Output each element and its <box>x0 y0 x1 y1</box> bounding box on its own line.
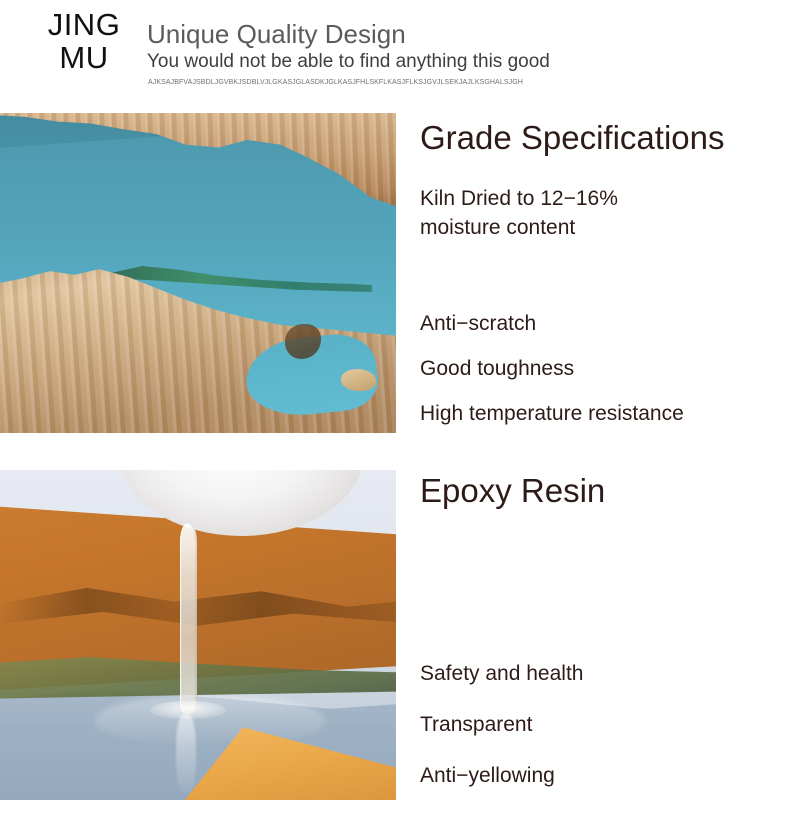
section-2-title: Epoxy Resin <box>420 470 790 510</box>
feature-item: Transparent <box>420 712 790 737</box>
photo-stream-reflection <box>176 714 196 793</box>
feature-item: Anti−scratch <box>420 311 790 336</box>
section-grade-specifications: Grade Specifications Kiln Dried to 12−16… <box>0 113 790 433</box>
section-1-title: Grade Specifications <box>420 113 790 157</box>
section-1-lead: Kiln Dried to 12−16%moisture content <box>420 157 790 242</box>
page-header: JING MU Unique Quality Design You would … <box>0 0 790 105</box>
section-epoxy-resin: Epoxy Resin Safety and health Transparen… <box>0 470 790 800</box>
header-microline: AJKSAJBFVAJSBDLJGVBKJSDBLVJLGKASJGLASDKJ… <box>148 77 767 88</box>
brand-logo-line-1: JING <box>24 8 144 41</box>
photo-wood-chip <box>341 369 377 391</box>
feature-item: High temperature resistance <box>420 401 790 426</box>
section-2-copy: Epoxy Resin Safety and health Transparen… <box>420 470 790 800</box>
section-1-feature-list: Anti−scratch Good toughness High tempera… <box>420 242 790 426</box>
photo-resin-stream <box>180 523 197 714</box>
feature-item: Good toughness <box>420 356 790 381</box>
header-headline: Unique Quality Design <box>147 20 767 49</box>
header-subline: You would not be able to find anything t… <box>147 50 767 74</box>
brand-logo-line-2: MU <box>24 41 144 74</box>
section-2-feature-list: Safety and health Transparent Anti−yello… <box>420 510 790 788</box>
product-photo-resin-pour <box>0 470 396 800</box>
brand-logo: JING MU <box>24 8 144 74</box>
product-photo-wood-resin-river <box>0 113 396 433</box>
header-text-block: Unique Quality Design You would not be a… <box>147 20 767 88</box>
section-1-copy: Grade Specifications Kiln Dried to 12−16… <box>420 113 790 433</box>
feature-item: Anti−yellowing <box>420 763 790 788</box>
feature-item: Safety and health <box>420 661 790 686</box>
